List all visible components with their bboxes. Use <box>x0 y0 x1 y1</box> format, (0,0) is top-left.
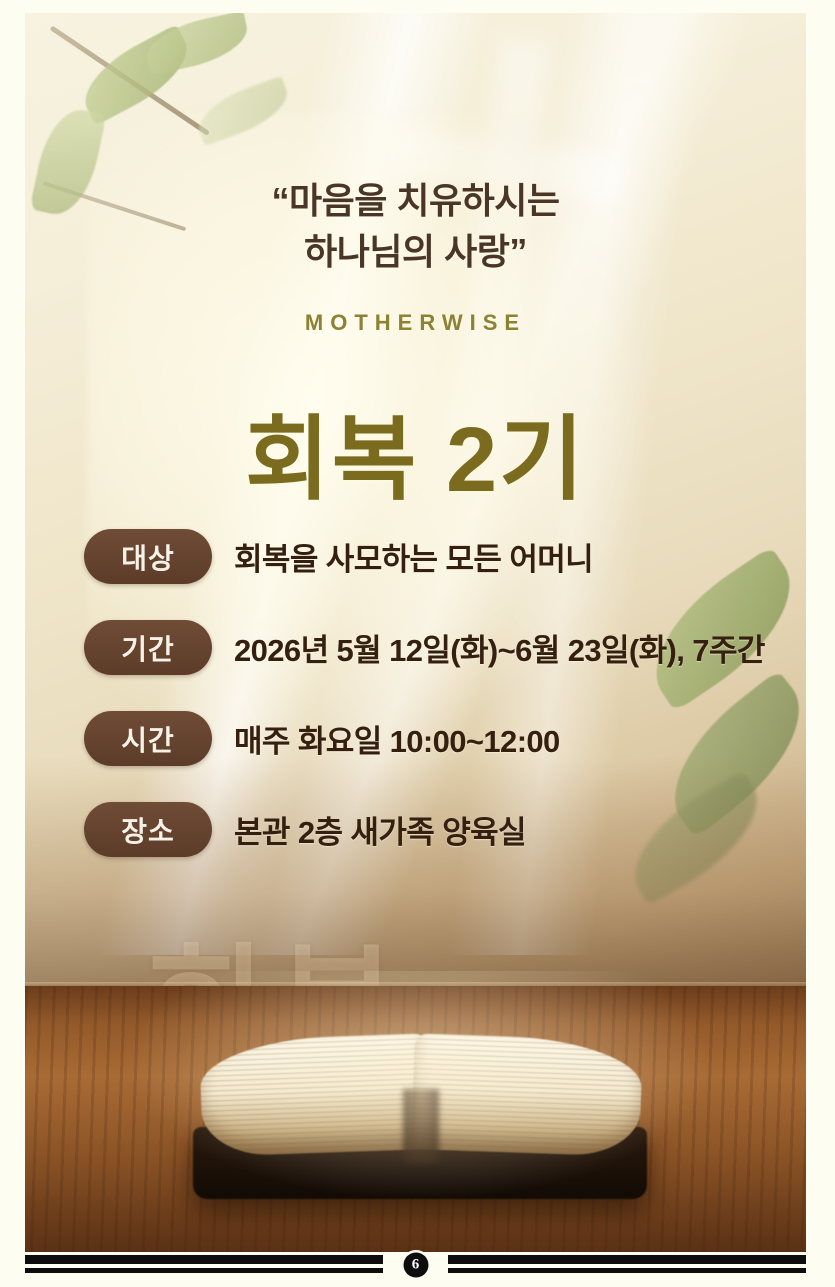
footer-bar-thin <box>448 1268 806 1273</box>
poster-artwork: 회복 “마음을 치유하시는 하나님의 사랑” MOTHERWISE 회복 2기 … <box>25 13 806 1252</box>
info-row-target: 대상 회복을 사모하는 모든 어머니 <box>84 529 784 584</box>
quote-line-1: “마음을 치유하시는 <box>25 175 806 226</box>
footer-rule: 6 <box>25 1252 806 1278</box>
info-value-period: 2026년 5월 12일(화)~6월 23일(화), 7주간 <box>234 625 765 670</box>
info-row-time: 시간 매주 화요일 10:00~12:00 <box>84 711 784 766</box>
footer-bar-left <box>25 1255 383 1275</box>
info-value-place: 본관 2층 새가족 양육실 <box>234 807 526 852</box>
footer-bar-thick <box>448 1255 806 1264</box>
info-value-target: 회복을 사모하는 모든 어머니 <box>234 534 593 579</box>
brand-name: MOTHERWISE <box>25 310 806 336</box>
footer-bar-thick <box>25 1255 383 1264</box>
info-label-period: 기간 <box>84 620 212 675</box>
page-title: 회복 2기 <box>25 385 806 518</box>
info-label-target: 대상 <box>84 529 212 584</box>
info-row-place: 장소 본관 2층 새가족 양육실 <box>84 802 784 857</box>
page-number: 6 <box>403 1253 428 1278</box>
info-label-time: 시간 <box>84 711 212 766</box>
footer-bar-right <box>448 1255 806 1275</box>
quote-line-2: 하나님의 사랑” <box>25 226 806 277</box>
poster-content: “마음을 치유하시는 하나님의 사랑” MOTHERWISE 회복 2기 대상 … <box>25 13 806 1252</box>
quote-block: “마음을 치유하시는 하나님의 사랑” <box>25 175 806 277</box>
footer-bar-thin <box>25 1268 383 1273</box>
info-row-period: 기간 2026년 5월 12일(화)~6월 23일(화), 7주간 <box>84 620 784 675</box>
info-value-time: 매주 화요일 10:00~12:00 <box>234 716 560 761</box>
poster-page: 회복 “마음을 치유하시는 하나님의 사랑” MOTHERWISE 회복 2기 … <box>0 0 835 1287</box>
info-label-place: 장소 <box>84 802 212 857</box>
info-list: 대상 회복을 사모하는 모든 어머니 기간 2026년 5월 12일(화)~6월… <box>84 529 784 893</box>
